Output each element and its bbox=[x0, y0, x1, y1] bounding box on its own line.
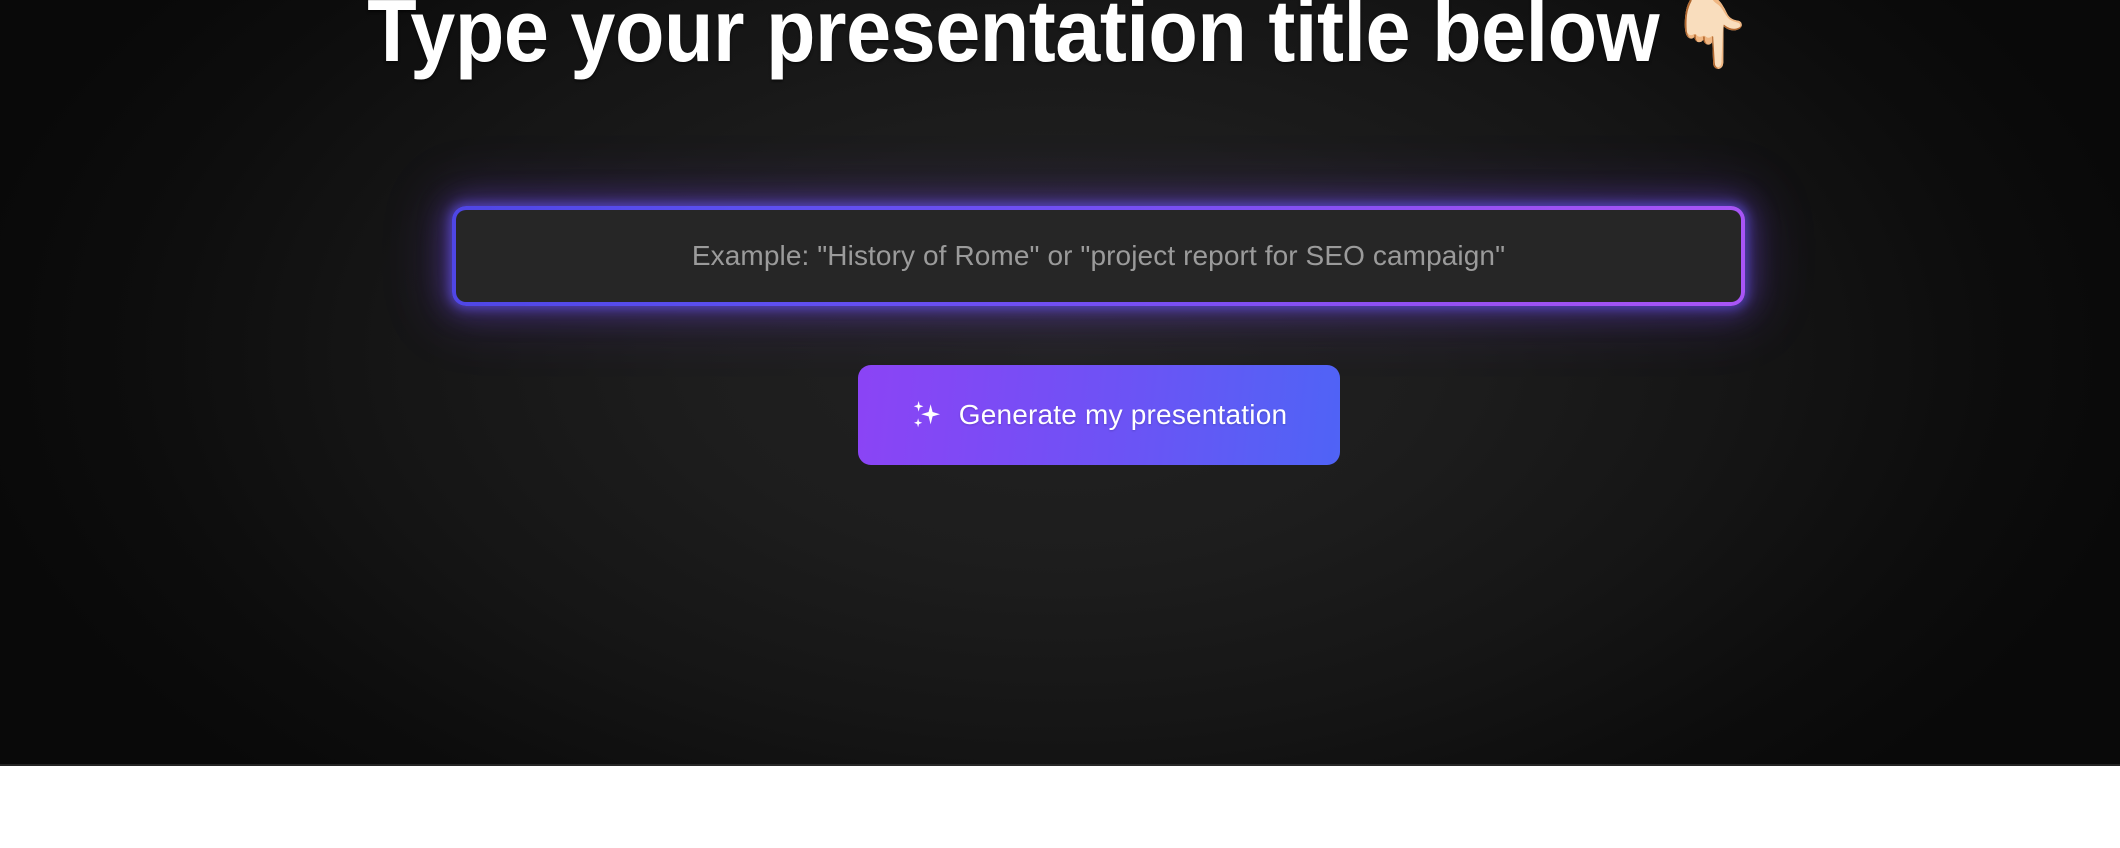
page-root: Type your presentation title below👇🏻 Gen… bbox=[0, 0, 2120, 848]
backhand-index-pointing-down-icon: 👇🏻 bbox=[1670, 0, 1752, 72]
sparkles-icon bbox=[909, 398, 943, 432]
page-body-section bbox=[0, 766, 2120, 848]
hero-section: Type your presentation title below👇🏻 Gen… bbox=[0, 0, 2120, 766]
generate-button-label: Generate my presentation bbox=[959, 399, 1290, 431]
generate-presentation-button[interactable]: Generate my presentation bbox=[858, 365, 1340, 465]
page-title: Type your presentation title below👇🏻 bbox=[85, 0, 2035, 83]
presentation-title-input[interactable] bbox=[456, 210, 1741, 302]
title-input-container[interactable] bbox=[452, 206, 1745, 306]
page-title-text: Type your presentation title below bbox=[367, 0, 1659, 80]
